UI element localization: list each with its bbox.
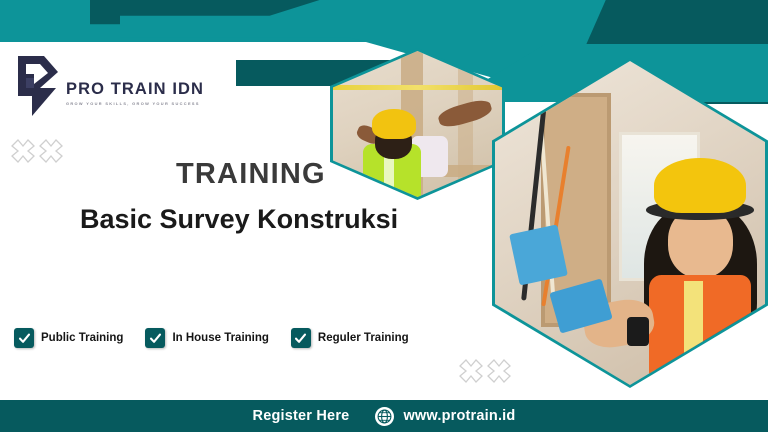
checkbox-checked-icon[interactable] (14, 328, 34, 348)
website-url: www.protrain.id (403, 408, 515, 424)
eyebrow-heading: TRAINING (176, 160, 326, 189)
training-types-list: Public Training In House Training Regule… (14, 328, 409, 348)
brand-logo: PRO TRAIN IDN GROW YOUR SKILLS, GROW YOU… (14, 54, 204, 118)
checkbox-checked-icon[interactable] (291, 328, 311, 348)
training-type-label: In House Training (172, 332, 268, 344)
footer-bar: Register Here www.protrain.id (0, 400, 768, 432)
page-title: Basic Survey Konstruksi (80, 204, 398, 235)
training-type-reguler[interactable]: Reguler Training (291, 328, 409, 348)
training-type-label: Public Training (41, 332, 123, 344)
x-pattern-decor-icon (38, 138, 64, 164)
x-pattern-decor-icon (486, 358, 512, 384)
x-pattern-decor-left (10, 138, 64, 164)
x-pattern-decor-icon (458, 358, 484, 384)
register-here-label[interactable]: Register Here (253, 408, 350, 424)
protrain-arrow-logo-icon (14, 54, 60, 118)
x-pattern-decor-right (458, 358, 512, 384)
globe-icon (375, 407, 394, 426)
engineer-wiring-photo (492, 58, 768, 388)
checkbox-checked-icon[interactable] (145, 328, 165, 348)
brand-tagline: GROW YOUR SKILLS, GROW YOUR SUCCESS (66, 101, 204, 106)
website-link[interactable]: www.protrain.id (375, 407, 515, 426)
x-pattern-decor-icon (10, 138, 36, 164)
training-type-label: Reguler Training (318, 332, 409, 344)
training-type-public[interactable]: Public Training (14, 328, 123, 348)
training-poster: PRO TRAIN IDN GROW YOUR SKILLS, GROW YOU… (0, 0, 768, 432)
brand-name: PRO TRAIN IDN (66, 81, 204, 98)
training-type-in-house[interactable]: In House Training (145, 328, 268, 348)
